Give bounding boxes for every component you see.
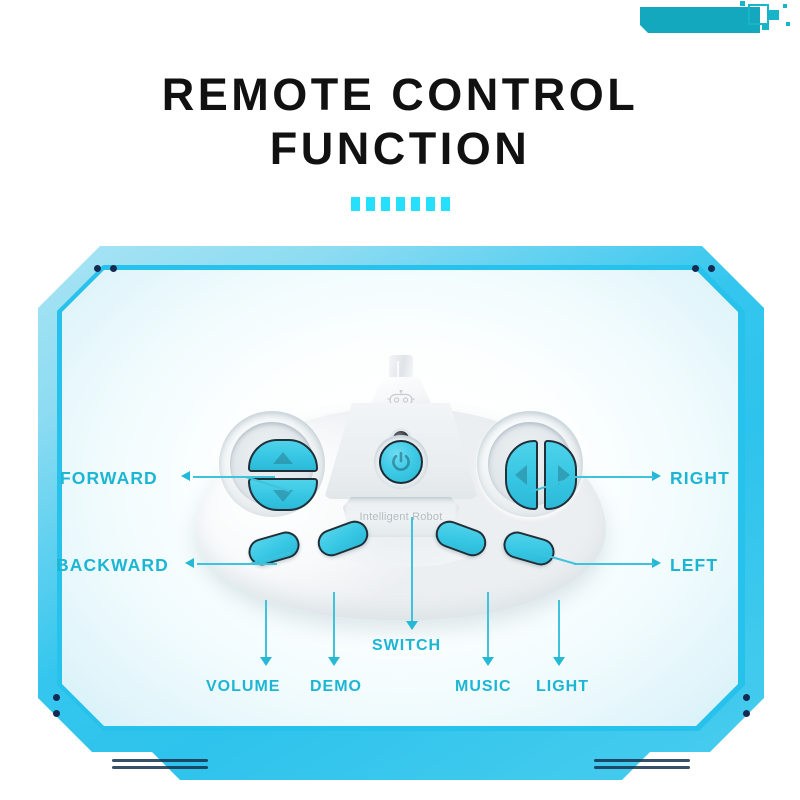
decoration-square-2 [769,10,779,20]
divider-dot [441,197,450,211]
callout-leader-volume [265,600,267,658]
decoration-square-outline-1 [748,4,769,25]
frame-vent-left-2 [112,766,208,769]
page-title-line-1: REMOTE CONTROL [0,68,800,122]
callout-leader-right [574,476,654,478]
frame-screw-top-left-2 [110,265,117,272]
frame-screw-bottom-left-2 [53,710,60,717]
dpad-right-recess [488,422,572,506]
triangle-left-icon [515,465,527,485]
divider-dot [351,197,360,211]
callout-leader-light [558,600,560,658]
product-infographic: REMOTE CONTROL FUNCTION [0,0,800,800]
callout-label-light: LIGHT [536,678,589,696]
divider-dot [396,197,405,211]
callout-arrow-forward [181,471,190,481]
dpad-left-cluster [219,411,325,517]
callout-label-music: MUSIC [455,678,512,696]
decoration-square-4 [783,4,787,8]
divider-dot [426,197,435,211]
dpad-up-button[interactable] [248,439,318,472]
triangle-down-icon [273,490,293,502]
callout-label-forward: FORWARD [60,468,158,489]
divider-dot [366,197,375,211]
callout-label-switch: SWITCH [372,637,441,655]
callout-leader-switch [411,517,413,622]
divider-dots [0,197,800,211]
frame-screw-top-left-1 [94,265,101,272]
callout-leader-demo [333,592,335,658]
frame-screw-top-right-2 [708,265,715,272]
callout-label-volume: VOLUME [206,678,280,696]
device-nameplate-text: Intelligent Robot [360,511,443,523]
frame-vent-left-1 [112,759,208,762]
page-title: REMOTE CONTROL FUNCTION [0,68,800,176]
power-icon [390,451,412,473]
callout-arrow-demo [328,657,340,666]
callout-arrow-switch [406,621,418,630]
callout-arrow-light [553,657,565,666]
frame-screw-bottom-right-2 [743,710,750,717]
callout-arrow-music [482,657,494,666]
callout-arrow-volume [260,657,272,666]
page-title-line-2: FUNCTION [0,122,800,176]
dpad-right-cluster [477,411,583,517]
callout-label-left: LEFT [670,555,718,576]
callout-label-right: RIGHT [670,468,730,489]
divider-dot [381,197,390,211]
decoration-square-3 [762,23,769,30]
triangle-up-icon [273,452,293,464]
decoration-square-5 [786,22,790,26]
frame-vent-right-2 [594,766,690,769]
divider-dot [411,197,420,211]
dpad-left-button[interactable] [505,440,538,510]
callout-arrow-backward [185,558,194,568]
callout-label-backward: BACKWARD [56,555,169,576]
power-button-recess [374,435,428,489]
callout-leader-left [574,563,654,565]
corner-decoration [640,0,800,42]
frame-vent-right-1 [594,759,690,762]
callout-leader-backward [197,563,277,565]
callout-leader-forward [193,476,275,478]
dpad-left-recess [230,422,314,506]
power-button[interactable] [379,440,423,484]
decoration-bar [640,7,760,33]
callout-leader-music [487,592,489,658]
callout-label-demo: DEMO [310,678,362,696]
frame-screw-bottom-right-1 [743,694,750,701]
frame-screw-top-right-1 [692,265,699,272]
decoration-square-1 [740,1,745,6]
frame-screw-bottom-left-1 [53,694,60,701]
